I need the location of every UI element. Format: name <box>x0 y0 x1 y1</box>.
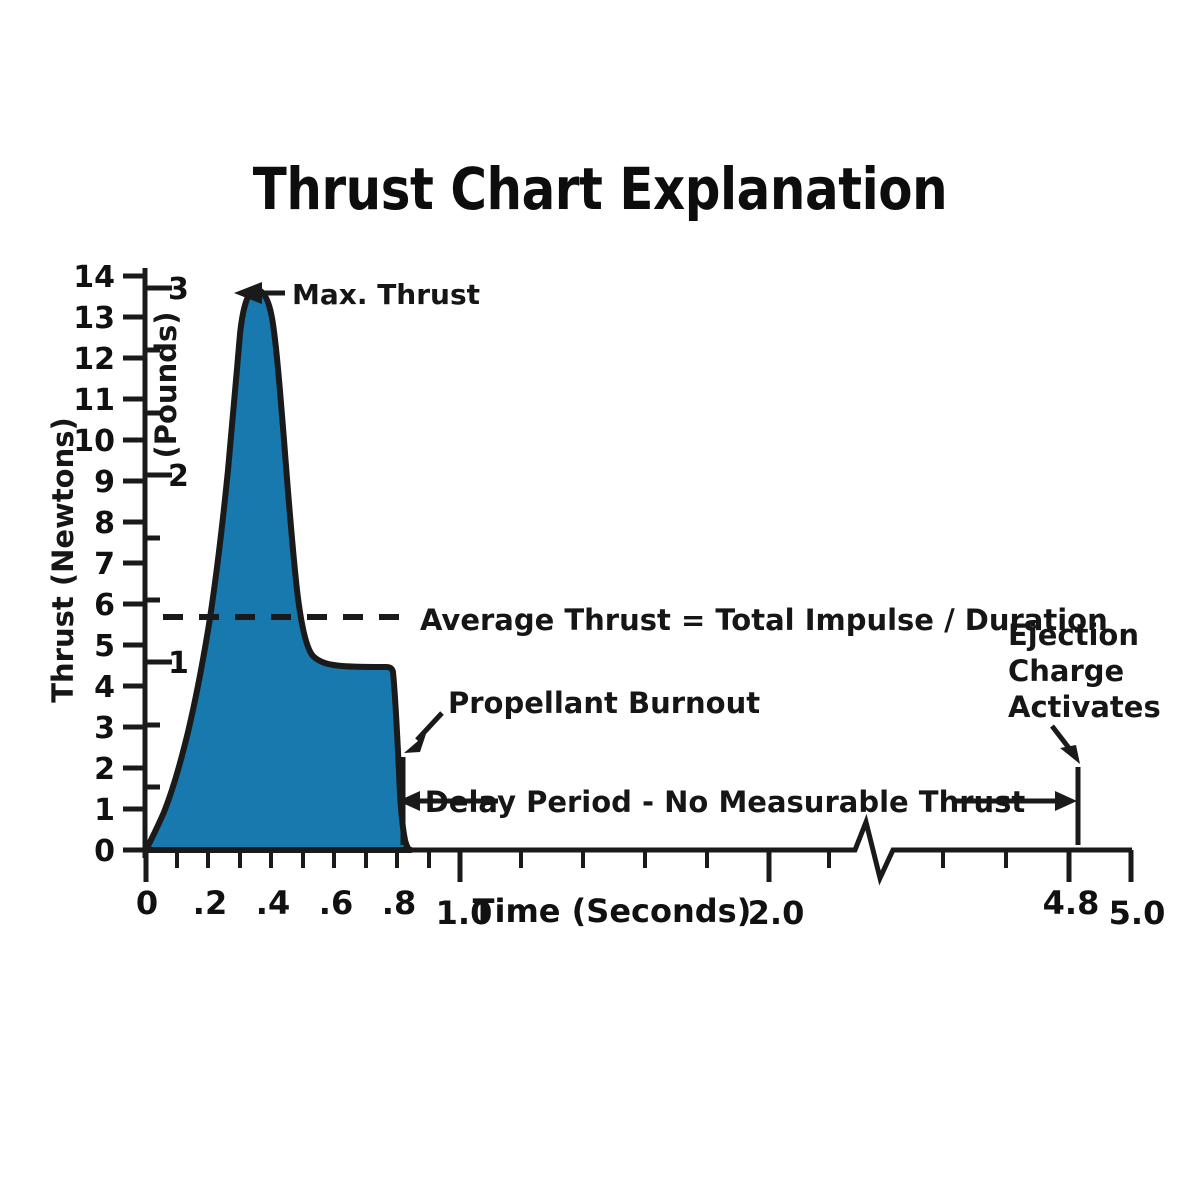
x-tick-label: .8 <box>382 884 416 922</box>
delay-period-label: Delay Period - No Measurable Thrust <box>425 785 1026 819</box>
max-thrust-label: Max. Thrust <box>292 278 480 311</box>
thrust-chart-page: Thrust Chart Explanation 0 1 2 <box>0 0 1200 1200</box>
y-tick-label: 1 <box>94 793 115 828</box>
ejection-charge-annotation: Ejection Charge Activates <box>1008 618 1161 845</box>
y-tick-label: 5 <box>94 629 115 664</box>
delay-period-annotation: Delay Period - No Measurable Thrust <box>398 785 1077 819</box>
y-tick-label: 14 <box>73 260 115 295</box>
ejection-charge-line2: Charge <box>1008 654 1124 688</box>
average-thrust-label: Average Thrust = Total Impulse / Duratio… <box>420 603 1108 637</box>
propellant-burnout-annotation: Propellant Burnout <box>403 686 760 845</box>
y-tick-label: 2 <box>94 752 115 787</box>
x-tick-label: 1.0 <box>436 894 493 932</box>
y-tick-label: 0 <box>94 834 115 869</box>
x-tick-label: 2.0 <box>748 894 805 932</box>
y-axis-title-newtons: Thrust (Newtons) <box>46 417 80 703</box>
y-tick-label: 8 <box>94 506 115 541</box>
x-axis-title: Time (Seconds) <box>473 892 752 930</box>
x-axis-major-ticks <box>146 850 1131 882</box>
y-tick-label: 7 <box>94 547 115 582</box>
x-tick-label: .6 <box>319 884 353 922</box>
y-tick-label-pounds: 3 <box>168 272 189 307</box>
y-tick-label: 3 <box>94 711 115 746</box>
x-tick-label: .4 <box>256 884 290 922</box>
thrust-curve-area <box>146 290 411 850</box>
ejection-charge-line3: Activates <box>1008 690 1161 724</box>
y-tick-label: 12 <box>73 342 115 377</box>
y-tick-label: 13 <box>73 301 115 336</box>
y-tick-label-pounds: 2 <box>168 459 189 494</box>
thrust-chart-figure: 0 1 2 3 4 5 6 7 8 9 10 11 12 13 14 <box>0 0 1200 1200</box>
y-axis-newton-ticks <box>123 276 145 850</box>
y-tick-label: 11 <box>73 383 115 418</box>
propellant-burnout-label: Propellant Burnout <box>448 686 760 720</box>
y-tick-label: 9 <box>94 465 115 500</box>
y-tick-label: 4 <box>94 670 115 705</box>
y-tick-label-pounds: 1 <box>168 646 189 681</box>
x-tick-label: 5.0 <box>1109 894 1166 932</box>
y-axis-title-pounds: (Pounds) <box>149 312 183 459</box>
ejection-charge-line1: Ejection <box>1008 618 1139 652</box>
x-tick-label: 4.8 <box>1043 884 1100 922</box>
x-tick-label: .2 <box>193 884 227 922</box>
y-tick-label: 6 <box>94 588 115 623</box>
x-tick-label: 0 <box>136 884 158 922</box>
